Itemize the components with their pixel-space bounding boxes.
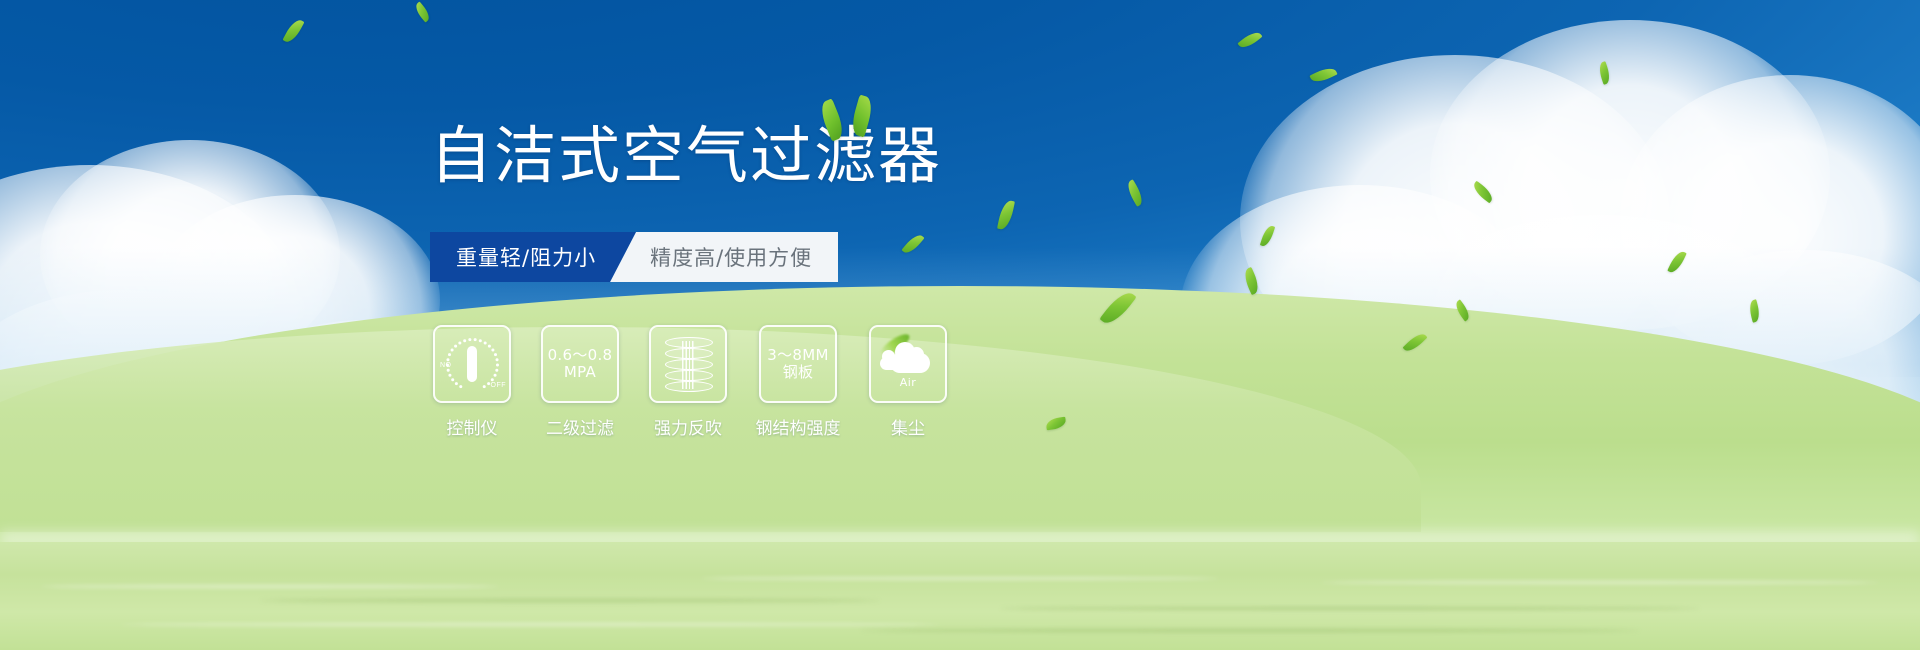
filter-stack-icon [665,337,711,391]
air-cloud-icon: Air [880,341,936,387]
dial-on-label: NO [440,362,452,369]
feature-item-steel-strength[interactable]: 3～8MM 钢板 钢结构强度 [756,325,840,439]
dial-pointer [467,346,477,382]
dial-dot [454,344,457,347]
filter-ring [665,348,713,359]
grass-streak [1000,607,1700,610]
feature-item-backflush[interactable]: 强力反吹 [648,325,728,439]
dial-dot [463,339,466,342]
dial-dot [493,353,496,356]
feature-caption: 二级过滤 [546,414,614,439]
feature-caption: 集尘 [891,414,925,439]
filter-ring [665,359,713,370]
grass-streak [260,599,880,602]
dial-dot [493,373,496,376]
dial-dot [454,382,457,385]
feature-caption: 控制仪 [447,414,498,439]
grass-foreground [0,542,1920,650]
promo-banner: 自洁式空气过滤器 重量轻/阻力小 精度高/使用方便 NO OFF 控制仪 [0,0,1920,650]
filter-ring [665,370,713,381]
feature-icon-box [649,325,727,403]
tab-weight-resistance[interactable]: 重量轻/阻力小 [430,232,636,282]
filter-ring [665,381,713,392]
tab-precision-convenience[interactable]: 精度高/使用方便 [610,232,838,282]
dial-dot [487,344,490,347]
dial-dot [490,378,493,381]
dial-dot [451,378,454,381]
dial-gauge-icon: NO OFF [443,335,501,393]
steel-value-line2: 钢板 [783,364,814,381]
steel-value-line1: 3～8MM [767,347,828,364]
feature-item-controller[interactable]: NO OFF 控制仪 [432,325,512,439]
pressure-value-line2: MPA [564,364,596,381]
grass-streak [700,577,1220,580]
feature-item-dust-collection[interactable]: Air 集尘 [868,325,948,439]
air-cloud-main [890,353,930,373]
dial-dot [478,339,481,342]
feature-caption: 钢结构强度 [756,414,841,439]
dial-dot [450,348,453,351]
feature-icon-box: NO OFF [433,325,511,403]
dial-dot [448,373,451,376]
pressure-value-line1: 0.6～0.8 [548,347,613,364]
feature-caption: 强力反吹 [654,414,722,439]
dial-dot [483,341,486,344]
dial-off-label: OFF [491,382,507,389]
grass-streak [1320,581,1880,584]
dial-dot [495,358,498,361]
dial-dot [458,341,461,344]
dial-dot [459,385,462,388]
dial-dot [482,385,485,388]
dial-dot [468,338,471,341]
tagline-tabs: 重量轻/阻力小 精度高/使用方便 [430,232,838,282]
grass-streak [40,585,500,588]
dial-dot [446,358,449,361]
feature-icon-box: 0.6～0.8 MPA [541,325,619,403]
dial-dot [487,382,490,385]
dial-dot [448,353,451,356]
air-label: Air [880,376,936,389]
sprout-leaf-right [849,95,875,138]
grass-streak [860,629,1640,632]
dial-dot [495,368,498,371]
dial-dot [495,363,498,366]
dial-dot [491,348,494,351]
grass-streak [120,623,940,626]
grass-field [0,420,1920,650]
feature-list: NO OFF 控制仪 0.6～0.8 MPA 二级过滤 [432,325,948,439]
feature-icon-box: 3～8MM 钢板 [759,325,837,403]
sprout-leaves-icon [824,96,884,142]
filter-ring [665,337,713,348]
feature-item-secondary-filtration[interactable]: 0.6～0.8 MPA 二级过滤 [540,325,620,439]
dial-dot [473,338,476,341]
feature-icon-box: Air [869,325,947,403]
